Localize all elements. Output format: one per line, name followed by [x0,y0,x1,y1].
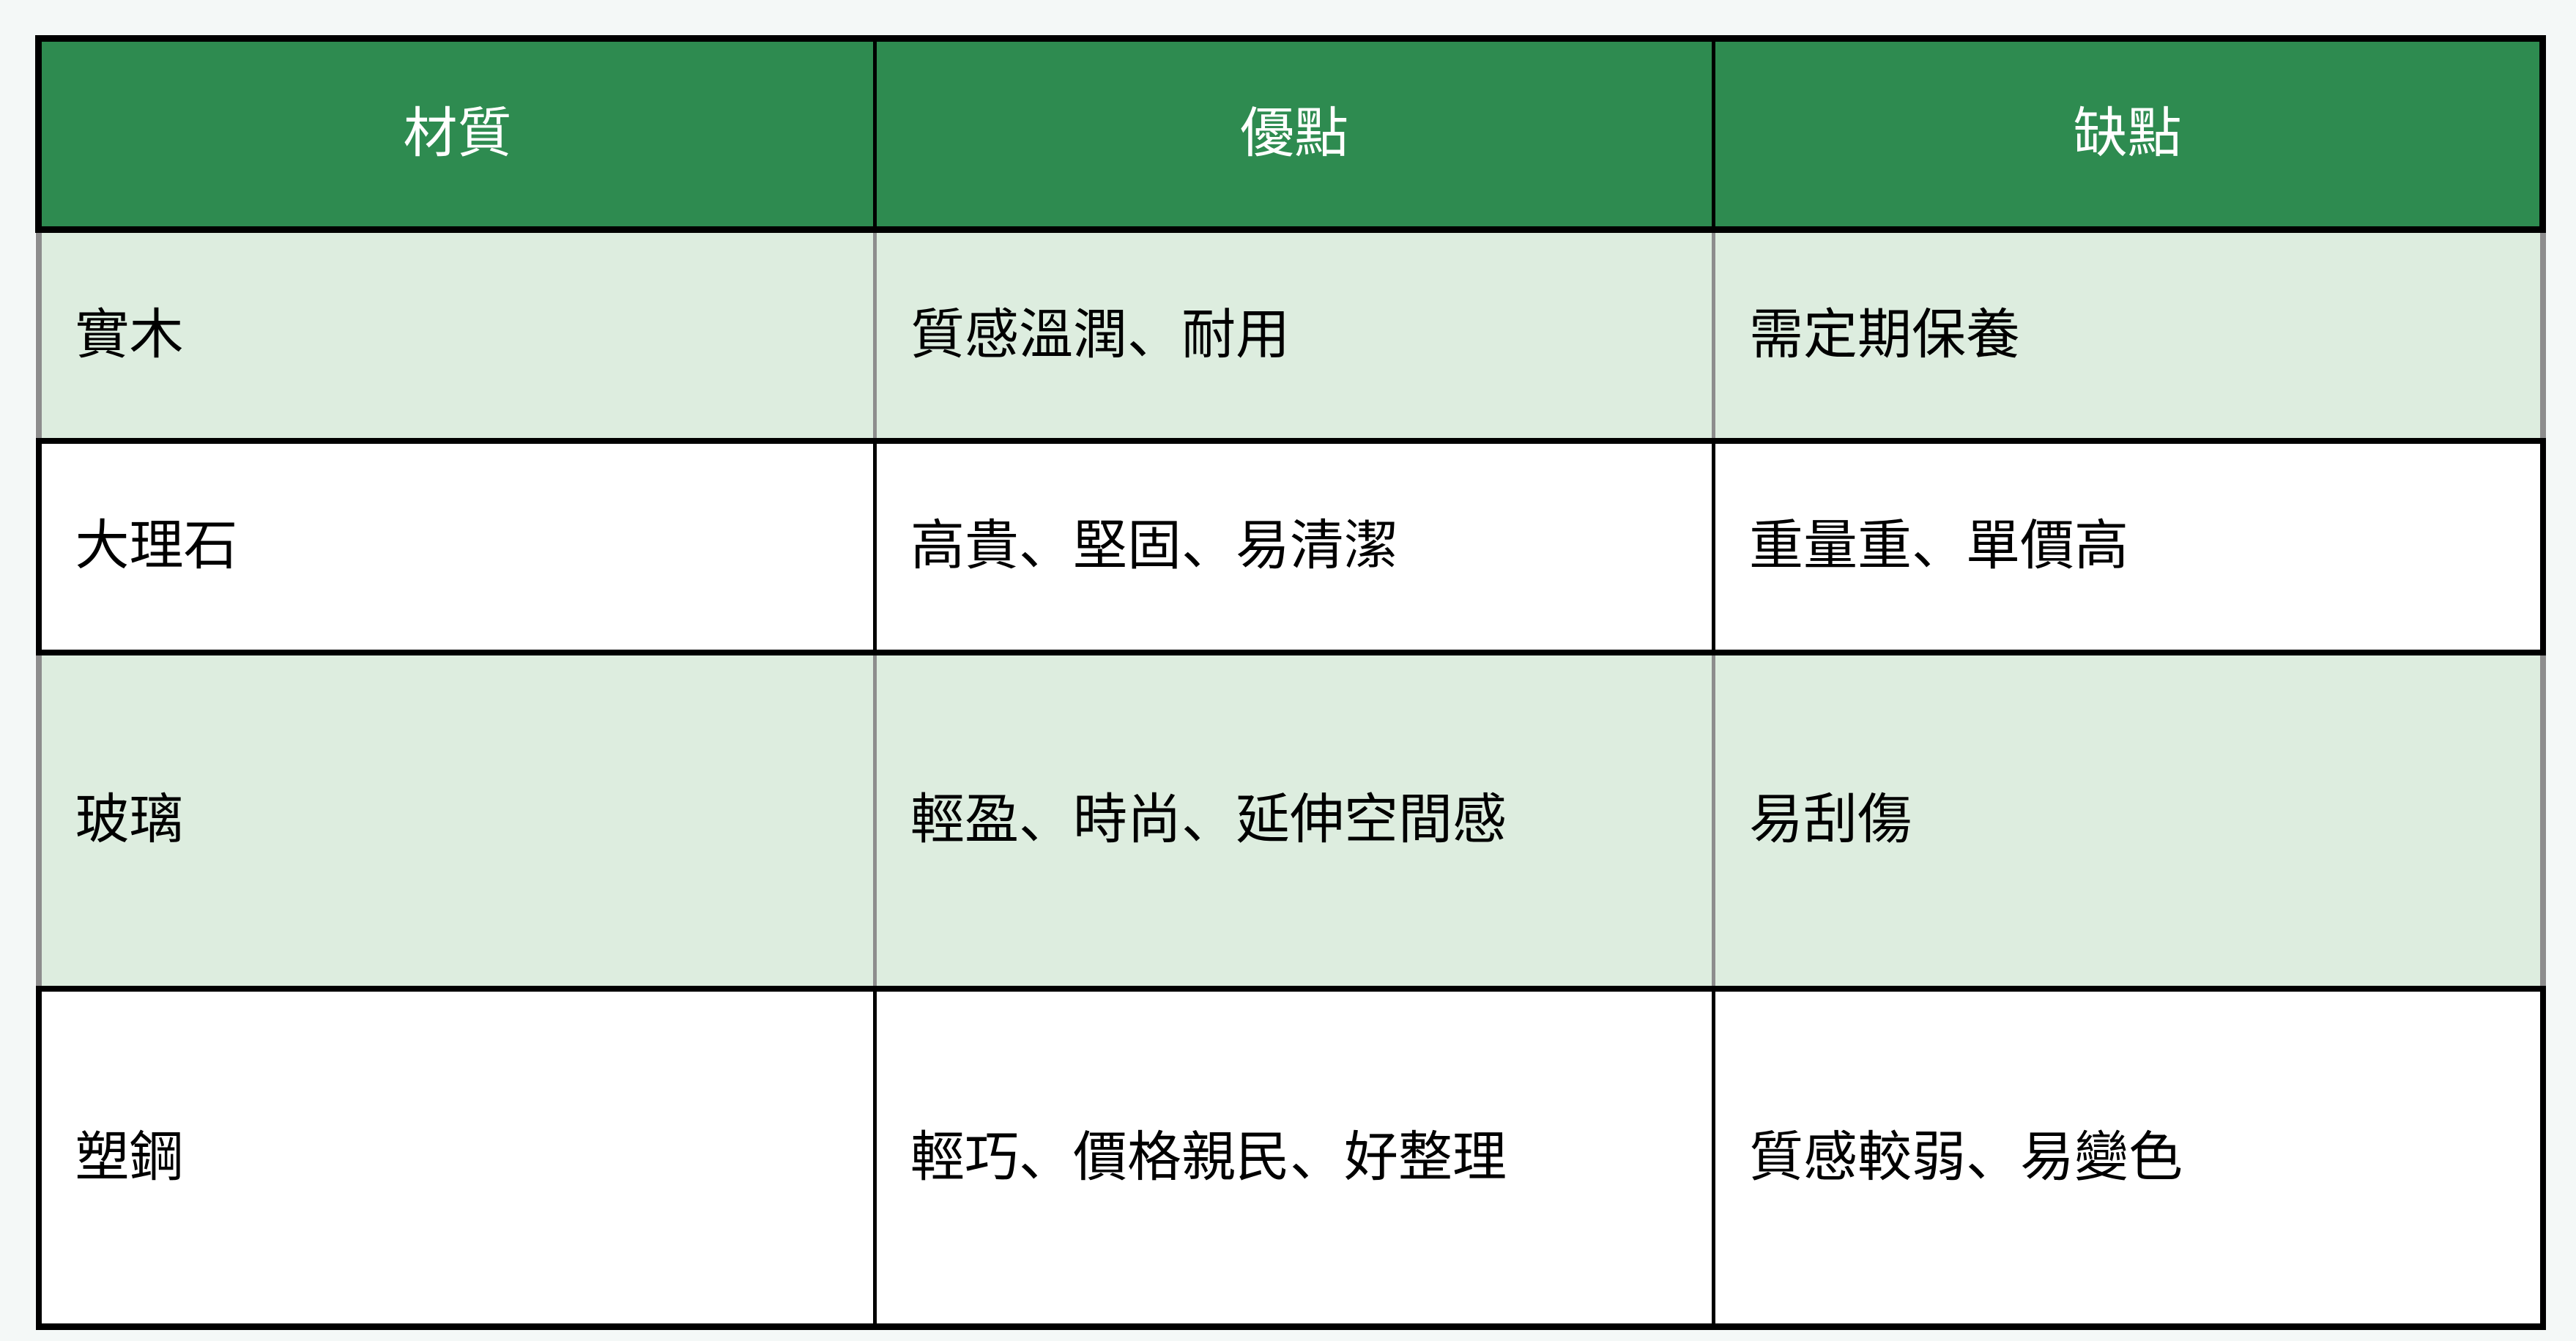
table-body: 實木 質感溫潤、耐用 需定期保養 大理石 高貴、堅固、易清潔 重量重、單價高 玻… [39,230,2543,1327]
table-header-row: 材質 優點 缺點 [39,39,2543,230]
column-header-material: 材質 [39,39,875,230]
column-header-pros: 優點 [875,39,1714,230]
table-header: 材質 優點 缺點 [39,39,2543,230]
table-row: 實木 質感溫潤、耐用 需定期保養 [39,230,2543,441]
column-header-cons: 缺點 [1714,39,2543,230]
cell-cons: 易刮傷 [1714,653,2543,989]
table-row: 玻璃 輕盈、時尚、延伸空間感 易刮傷 [39,653,2543,989]
cell-cons: 重量重、單價高 [1714,441,2543,653]
cell-pros: 輕巧、價格親民、好整理 [875,989,1714,1327]
cell-cons: 需定期保養 [1714,230,2543,441]
cell-pros: 高貴、堅固、易清潔 [875,441,1714,653]
table-row: 塑鋼 輕巧、價格親民、好整理 質感較弱、易變色 [39,989,2543,1327]
cell-material: 塑鋼 [39,989,875,1327]
cell-pros: 質感溫潤、耐用 [875,230,1714,441]
cell-material: 玻璃 [39,653,875,989]
table-row: 大理石 高貴、堅固、易清潔 重量重、單價高 [39,441,2543,653]
cell-pros: 輕盈、時尚、延伸空間感 [875,653,1714,989]
material-comparison-table: 材質 優點 缺點 實木 質感溫潤、耐用 需定期保養 大理石 高貴、堅固、易清潔 … [35,35,2546,1330]
table-container: 材質 優點 缺點 實木 質感溫潤、耐用 需定期保養 大理石 高貴、堅固、易清潔 … [35,35,2539,1317]
cell-material: 實木 [39,230,875,441]
cell-material: 大理石 [39,441,875,653]
page-root: 材質 優點 缺點 實木 質感溫潤、耐用 需定期保養 大理石 高貴、堅固、易清潔 … [0,0,2576,1341]
cell-cons: 質感較弱、易變色 [1714,989,2543,1327]
